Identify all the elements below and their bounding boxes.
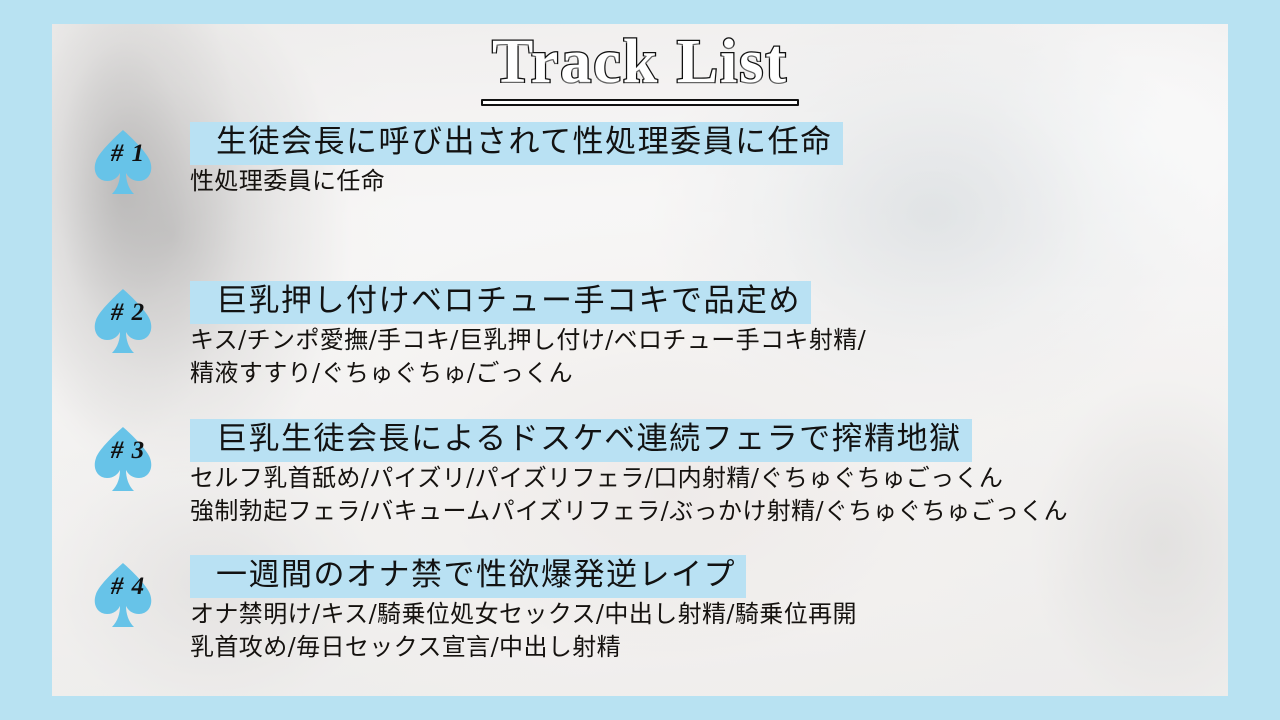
- track-subtitle-line: 強制勃起フェラ/バキュームパイズリフェラ/ぶっかけ射精/ぐちゅぐちゅごっくん: [190, 496, 1228, 528]
- track-body: 巨乳押し付けベロチュー手コキで品定め キス/チンポ愛撫/手コキ/巨乳押し付け/ベ…: [190, 281, 1228, 389]
- track-body: 一週間のオナ禁で性欲爆発逆レイプ オナ禁明け/キス/騎乗位処女セックス/中出し射…: [190, 555, 1228, 663]
- title-block: Track List: [52, 30, 1228, 106]
- track-body: 生徒会長に呼び出されて性処理委員に任命 性処理委員に任命: [190, 122, 1228, 197]
- track-subtitle-line: セルフ乳首舐め/パイズリ/パイズリフェラ/口内射精/ぐちゅぐちゅごっくん: [190, 463, 1228, 495]
- page-title: Track List: [486, 30, 794, 99]
- track-number: # 4: [80, 573, 176, 601]
- slide-content: Track List # 1 生徒会長に呼び出されて性: [52, 24, 1228, 696]
- track-list: # 1 生徒会長に呼び出されて性処理委員に任命 性処理委員に任命: [52, 116, 1228, 663]
- track-body: 巨乳生徒会長によるドスケベ連続フェラで搾精地獄 セルフ乳首舐め/パイズリ/パイズ…: [190, 419, 1228, 527]
- track-subtitle-line: キス/チンポ愛撫/手コキ/巨乳押し付け/ベロチュー手コキ射精/: [190, 325, 1228, 357]
- slide-root: Track List # 1 生徒会長に呼び出されて性: [0, 0, 1280, 720]
- track-item: # 4 一週間のオナ禁で性欲爆発逆レイプ オナ禁明け/キス/騎乗位処女セックス/…: [52, 555, 1228, 663]
- track-item: # 3 巨乳生徒会長によるドスケベ連続フェラで搾精地獄 セルフ乳首舐め/パイズリ…: [52, 419, 1228, 527]
- track-badge: # 1: [80, 122, 176, 204]
- track-badge: # 4: [80, 555, 176, 637]
- title-underline: [481, 99, 799, 106]
- track-number: # 3: [80, 437, 176, 465]
- track-subtitle-line: 乳首攻め/毎日セックス宣言/中出し射精: [190, 632, 1228, 664]
- content-panel: Track List # 1 生徒会長に呼び出されて性: [52, 24, 1228, 696]
- track-title: 巨乳押し付けベロチュー手コキで品定め: [190, 281, 811, 324]
- track-subtitle-line: 性処理委員に任命: [190, 166, 1228, 198]
- track-number: # 2: [80, 299, 176, 327]
- track-subtitle-line: オナ禁明け/キス/騎乗位処女セックス/中出し射精/騎乗位再開: [190, 599, 1228, 631]
- track-badge: # 3: [80, 419, 176, 501]
- track-title: 巨乳生徒会長によるドスケベ連続フェラで搾精地獄: [190, 419, 972, 462]
- track-item: # 1 生徒会長に呼び出されて性処理委員に任命 性処理委員に任命: [52, 122, 1228, 197]
- track-title: 一週間のオナ禁で性欲爆発逆レイプ: [190, 555, 746, 598]
- track-item: # 2 巨乳押し付けベロチュー手コキで品定め キス/チンポ愛撫/手コキ/巨乳押し…: [52, 281, 1228, 389]
- track-badge: # 2: [80, 281, 176, 363]
- track-number: # 1: [80, 140, 176, 168]
- track-subtitle-line: 精液すすり/ぐちゅぐちゅ/ごっくん: [190, 358, 1228, 390]
- track-title: 生徒会長に呼び出されて性処理委員に任命: [190, 122, 843, 165]
